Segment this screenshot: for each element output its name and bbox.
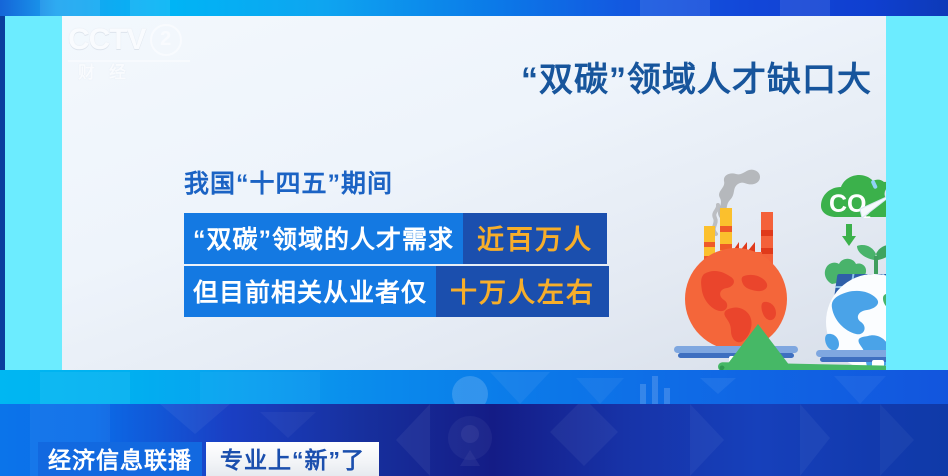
cctv-logo-subtitle: 财经 bbox=[62, 58, 202, 83]
lead-line: 我国“十四五”期间 bbox=[184, 164, 393, 200]
cctv-logo-text: CCTV bbox=[68, 25, 146, 55]
stat-row-demand: “双碳”领域的人才需求 近百万人 bbox=[184, 213, 607, 264]
program-name: 经济信息联播 bbox=[38, 442, 202, 476]
bottom-band-upper bbox=[0, 370, 948, 404]
stat-label: 但目前相关从业者仅 bbox=[184, 266, 436, 317]
stat-value: 近百万人 bbox=[463, 213, 607, 264]
right-cyan-bar bbox=[886, 16, 948, 370]
page-title: “双碳”领域人才缺口大 bbox=[472, 52, 872, 101]
broadcast-screenshot: CCTV 2 财经 “双碳”领域人才缺口大 我国“十四五”期间 “双碳”领域的人… bbox=[0, 0, 948, 476]
cctv-channel-watermark: CCTV 2 财经 bbox=[62, 24, 202, 96]
left-cyan-bar bbox=[5, 16, 62, 370]
topic-title: 专业上“新”了 bbox=[206, 442, 379, 476]
illustration-svg: CO 2 bbox=[658, 156, 886, 370]
balance-scale-illustration: CO 2 bbox=[658, 156, 886, 370]
stat-row-current: 但目前相关从业者仅 十万人左右 bbox=[184, 266, 609, 317]
stat-label: “双碳”领域的人才需求 bbox=[184, 213, 463, 264]
lower-third-bar: 经济信息联播 专业上“新”了 bbox=[38, 442, 379, 476]
cctv-channel-number: 2 bbox=[150, 24, 182, 56]
polluted-earth-icon bbox=[685, 248, 787, 350]
main-content-panel: CCTV 2 财经 “双碳”领域人才缺口大 我国“十四五”期间 “双碳”领域的人… bbox=[62, 16, 886, 370]
stat-value: 十万人左右 bbox=[436, 266, 609, 317]
top-gradient-band bbox=[0, 0, 948, 16]
